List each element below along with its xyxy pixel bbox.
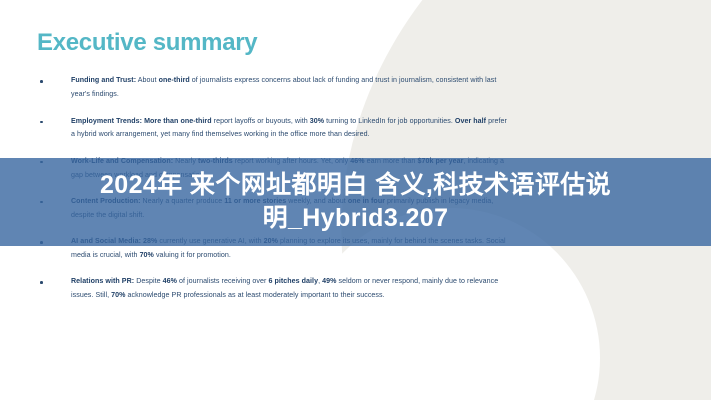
list-item: Funding and Trust: About one-third of jo…	[37, 74, 507, 102]
presentation-slide: Executive summary Funding and Trust: Abo…	[0, 0, 711, 400]
bullet-dot-icon	[40, 121, 43, 124]
list-item: Relations with PR: Despite 46% of journa…	[37, 275, 507, 303]
page-title: Executive summary	[37, 30, 671, 56]
bullet-lead: Funding and Trust:	[71, 76, 136, 84]
overlay-line-2: 明_Hybrid3.207	[18, 202, 693, 235]
bullet-lead: Relations with PR:	[71, 277, 134, 285]
bullet-dot-icon	[40, 281, 43, 284]
bullet-body: Despite 46% of journalists receiving ove…	[71, 277, 498, 299]
overlay-watermark-text: 2024年 来个网址都明白 含义,科技术语评估说 明_Hybrid3.207	[18, 169, 693, 235]
bullet-dot-icon	[40, 80, 43, 83]
list-item: Employment Trends: More than one-third r…	[37, 115, 507, 143]
bullet-lead: Employment Trends: More than one-third	[71, 117, 212, 125]
slide-content: Executive summary Funding and Trust: Abo…	[0, 0, 711, 303]
overlay-watermark-banner: 2024年 来个网址都明白 含义,科技术语评估说 明_Hybrid3.207	[0, 158, 711, 246]
overlay-line-1: 2024年 来个网址都明白 含义,科技术语评估说	[100, 171, 611, 199]
